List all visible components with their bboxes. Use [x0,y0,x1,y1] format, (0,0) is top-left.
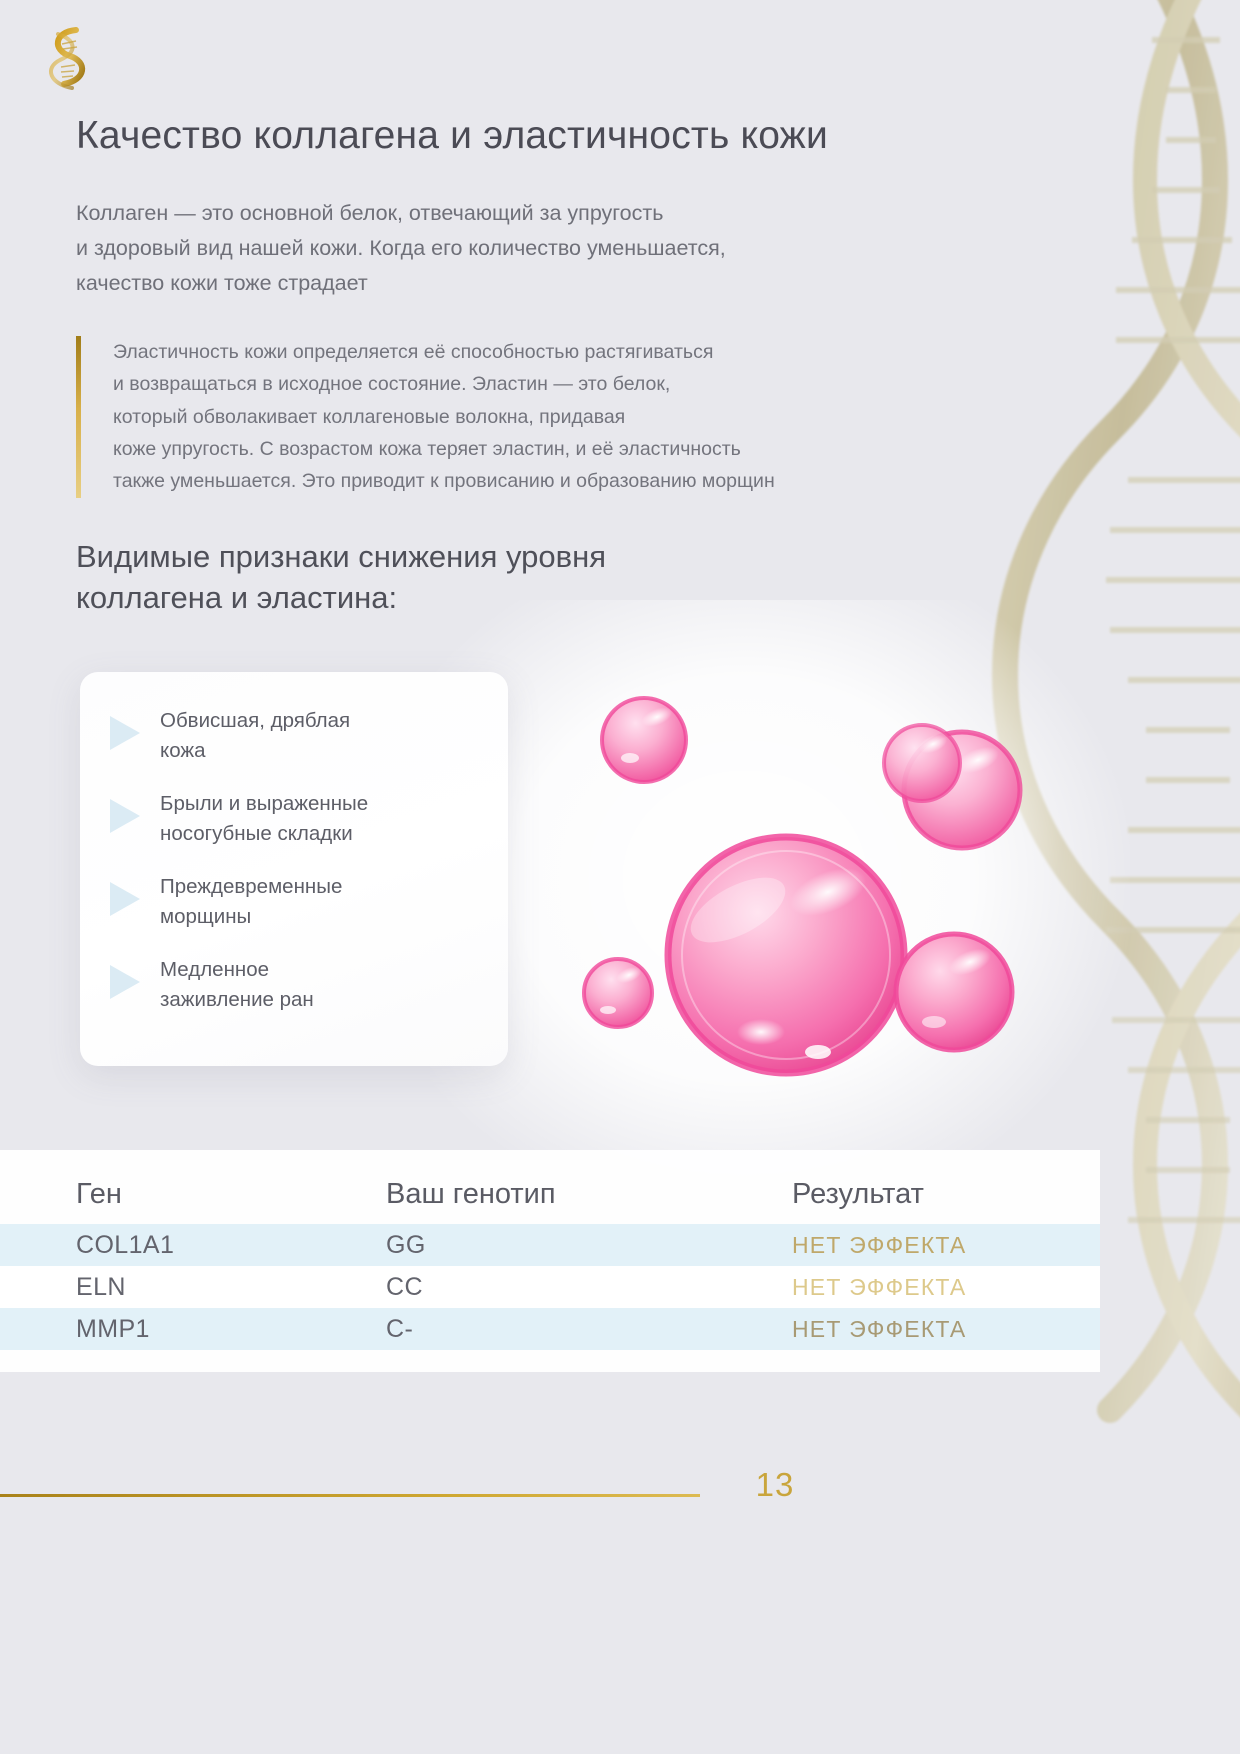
list-item: Брыли и выраженные носогубные складки [106,789,482,848]
list-item: Преждевременные морщины [106,872,482,931]
triangle-right-icon [110,965,140,999]
quote-line-4: коже упругость. С возрастом кожа теряет … [113,433,993,465]
quote-line-1: Эластичность кожи определяется её способ… [113,336,993,368]
report-page: Качество коллагена и эластичность кожи К… [0,0,1240,1754]
triangle-right-icon [110,882,140,916]
status-badge: НЕТ ЭФФЕКТА [792,1274,1092,1301]
quote-line-3: который обволакивает коллагеновые волокн… [113,401,993,433]
section-heading-line-1: Видимые признаки снижения уровня [76,539,606,574]
cell-gene: MMP1 [76,1315,386,1344]
quote-line-2: и возвращаться в исходное состояние. Эла… [113,368,993,400]
symptoms-card: Обвисшая, дряблая кожа Брыли и выраженны… [80,672,508,1066]
table-row: MMP1 C- НЕТ ЭФФЕКТА [0,1308,1100,1350]
illustration-glow [430,600,1130,1220]
dna-logo-icon [36,22,98,100]
list-item: Обвисшая, дряблая кожа [106,706,482,765]
symptom-text: Обвисшая, дряблая кожа [160,706,350,765]
cell-gene: ELN [76,1273,386,1302]
symptom-text: Преждевременные морщины [160,872,342,931]
table-header-row: Ген Ваш генотип Результат [0,1150,1100,1224]
symptom-line-1: Брыли и выраженные [160,792,368,815]
symptom-line-1: Обвисшая, дряблая [160,709,350,732]
symptom-line-2: морщины [160,905,251,928]
column-header-gene: Ген [76,1178,386,1211]
cell-genotype: CC [386,1273,792,1302]
section-heading: Видимые признаки снижения уровня коллаге… [76,536,876,618]
cell-gene: COL1A1 [76,1231,386,1260]
cell-genotype: C- [386,1315,792,1344]
pink-bubbles-illustration [556,660,1026,1080]
symptom-line-2: носогубные складки [160,822,353,845]
list-item: Медленное заживление ран [106,955,482,1014]
table-row: COL1A1 GG НЕТ ЭФФЕКТА [0,1224,1100,1266]
footer-rule [0,1494,700,1497]
status-badge: НЕТ ЭФФЕКТА [792,1316,1092,1343]
triangle-right-icon [110,716,140,750]
status-badge: НЕТ ЭФФЕКТА [792,1232,1092,1259]
symptom-line-2: кожа [160,739,205,762]
quote-line-5: также уменьшается. Это приводит к провис… [113,465,993,497]
column-header-genotype: Ваш генотип [386,1178,792,1211]
intro-line-1: Коллаген — это основной белок, отвечающи… [76,196,976,231]
genotype-results-table: Ген Ваш генотип Результат COL1A1 GG НЕТ … [0,1150,1100,1372]
page-title: Качество коллагена и эластичность кожи [76,112,1076,160]
intro-line-3: качество кожи тоже страдает [76,266,976,301]
intro-line-2: и здоровый вид нашей кожи. Когда его кол… [76,231,976,266]
symptom-text: Медленное заживление ран [160,955,314,1014]
callout-quote: Эластичность кожи определяется её способ… [76,336,993,498]
symptom-line-1: Преждевременные [160,875,342,898]
intro-paragraph: Коллаген — это основной белок, отвечающи… [76,196,976,300]
symptom-line-1: Медленное [160,958,269,981]
symptom-text: Брыли и выраженные носогубные складки [160,789,368,848]
symptom-line-2: заживление ран [160,988,314,1011]
section-heading-line-2: коллагена и эластина: [76,580,397,615]
triangle-right-icon [110,799,140,833]
cell-genotype: GG [386,1231,792,1260]
page-number: 13 [730,1466,820,1504]
column-header-result: Результат [792,1178,1092,1211]
table-row: ELN CC НЕТ ЭФФЕКТА [0,1266,1100,1308]
